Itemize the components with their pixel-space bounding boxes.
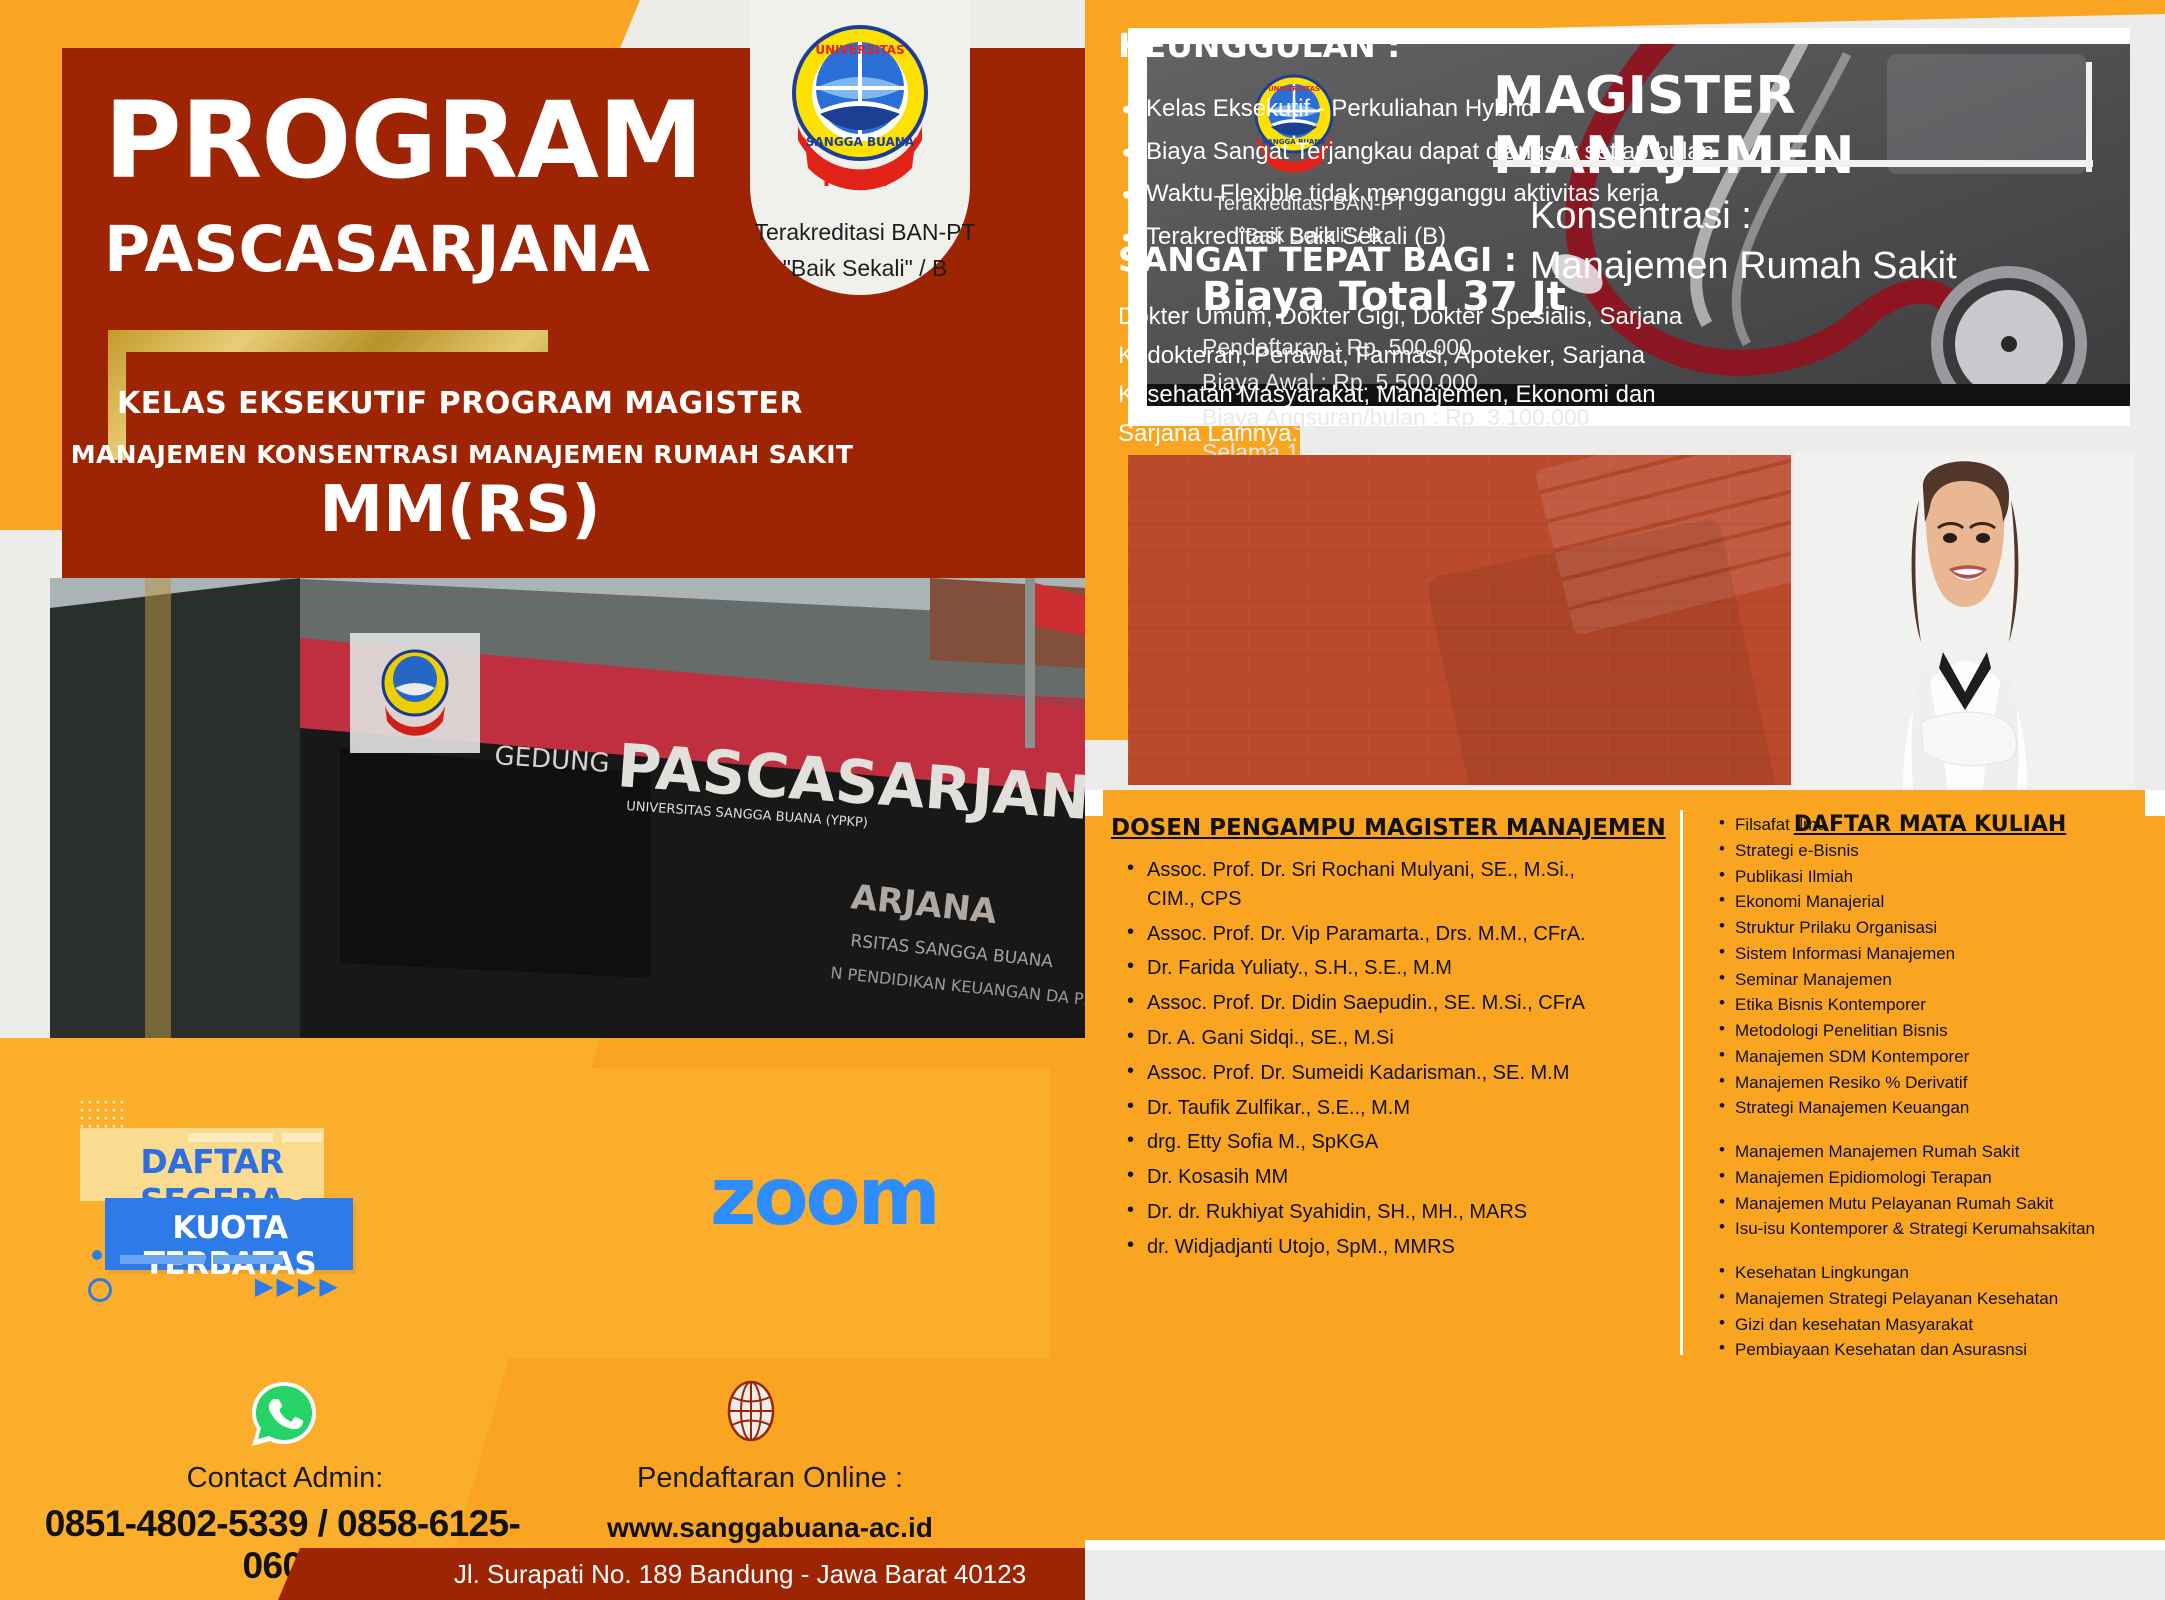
list-item: Manajemen Epidiomologi Terapan bbox=[1715, 1165, 2145, 1191]
dot-decoration-2 bbox=[92, 1250, 102, 1260]
globe-icon[interactable] bbox=[720, 1380, 782, 1442]
courses-list: Filsafat Ilmu Strategi e-Bisnis Publikas… bbox=[1715, 812, 2145, 1363]
list-item: Assoc. Prof. Dr. Sri Rochani Mulyani, SE… bbox=[1123, 856, 1613, 914]
list-item: Kelas Eksekutif - Perkuliahan Hybrid bbox=[1118, 88, 1738, 131]
promo-bar-yellow-2 bbox=[282, 1133, 322, 1142]
list-item: Etika Bisnis Kontemporer bbox=[1715, 992, 2145, 1018]
list-item: Assoc. Prof. Dr. Vip Paramarta., Drs. M.… bbox=[1123, 920, 1613, 949]
list-item: Strategi Manajemen Keuangan bbox=[1715, 1095, 2145, 1121]
doctor-photo bbox=[1795, 452, 2135, 790]
list-item: Manajemen Resiko % Derivatif bbox=[1715, 1070, 2145, 1096]
list-item: Manajemen SDM Kontemporer bbox=[1715, 1044, 2145, 1070]
list-item: drg. Etty Sofia M., SpKGA bbox=[1123, 1128, 1613, 1157]
online-registration-label: Pendaftaran Online : bbox=[560, 1462, 980, 1495]
list-item: Gizi dan kesehatan Masyarakat bbox=[1715, 1312, 2145, 1338]
page-title: PROGRAM bbox=[104, 88, 703, 194]
list-item: Pembiayaan Kesehatan dan Asurasnsi bbox=[1715, 1337, 2145, 1363]
list-item: Metodologi Penelitian Bisnis bbox=[1715, 1018, 2145, 1044]
list-item: Publikasi Ilmiah bbox=[1715, 864, 2145, 890]
dot-decoration-1 bbox=[297, 1205, 311, 1219]
right-flyer-panel: UNIVERSITAS SANGGA BUANA YPKP Terakredit… bbox=[1085, 0, 2165, 1600]
circle-outline-decoration-1 bbox=[285, 1178, 307, 1200]
lecturers-heading: DOSEN PENGAMPU MAGISTER MANAJEMEN bbox=[1111, 815, 1666, 841]
list-item: Waktu Flexible tidak mengganggu aktivita… bbox=[1118, 173, 1738, 216]
list-item: Isu-isu Kontemporer & Strategi Kerumahsa… bbox=[1715, 1216, 2145, 1242]
arrow-decoration: ▶▶▶▶ bbox=[255, 1272, 341, 1301]
orange-left-bar bbox=[0, 0, 62, 530]
promo-bar-yellow-1 bbox=[188, 1133, 273, 1142]
logo-bottom-text: SANGGA BUANA bbox=[806, 135, 915, 149]
list-item: Seminar Manajemen bbox=[1715, 967, 2145, 993]
whatsapp-icon[interactable] bbox=[250, 1380, 318, 1448]
logo-ribbon-text: YPKP bbox=[818, 167, 901, 191]
program-line-2: MANAJEMEN KONSENTRASI MANAJEMEN RUMAH SA… bbox=[62, 440, 862, 469]
accreditation-line-1: Terakreditasi BAN-PT bbox=[720, 215, 1010, 251]
list-item: dr. Widjadjanti Utojo, SpM., MMRS bbox=[1123, 1233, 1613, 1262]
campus-building-photo: GEDUNG PASCASARJANA UNIVERSITAS SANGGA B… bbox=[50, 578, 1085, 1038]
list-item: Filsafat Ilmu bbox=[1715, 812, 2145, 838]
advantages-box bbox=[1128, 455, 1791, 785]
list-item: Strategi e-Bisnis bbox=[1715, 838, 2145, 864]
lecturers-list: Assoc. Prof. Dr. Sri Rochani Mulyani, SE… bbox=[1123, 856, 1613, 1268]
circle-outline-decoration-2 bbox=[88, 1278, 112, 1302]
target-audience-heading: SANGAT TEPAT BAGI : bbox=[1118, 240, 1517, 279]
vertical-divider bbox=[1680, 810, 1683, 1355]
list-spacer bbox=[1715, 1242, 2145, 1260]
list-spacer bbox=[1715, 1121, 2145, 1139]
list-item: Manajemen Strategi Pelayanan Kesehatan bbox=[1715, 1286, 2145, 1312]
list-item: Dr. Kosasih MM bbox=[1123, 1163, 1613, 1192]
list-item: Dr. dr. Rukhiyat Syahidin, SH., MH., MAR… bbox=[1123, 1198, 1613, 1227]
list-item: Dr. A. Gani Sidqi., SE., M.Si bbox=[1123, 1024, 1613, 1053]
contact-admin-label: Contact Admin: bbox=[95, 1462, 475, 1495]
list-item: Manajemen Manajemen Rumah Sakit bbox=[1715, 1139, 2145, 1165]
list-item: Assoc. Prof. Dr. Sumeidi Kadarisman., SE… bbox=[1123, 1059, 1613, 1088]
program-line-1: KELAS EKSEKUTIF PROGRAM MAGISTER bbox=[110, 386, 810, 421]
accreditation-text: Terakreditasi BAN-PT "Baik Sekali" / B bbox=[720, 215, 1010, 286]
target-audience-text: Dokter Umum, Dokter Gigi, Dokter Spesial… bbox=[1118, 298, 1718, 454]
zoom-logo: zoom bbox=[710, 1150, 938, 1243]
logo-top-text: UNIVERSITAS bbox=[815, 43, 904, 57]
hero-frame-vertical bbox=[2086, 62, 2092, 172]
promo-bar-blue-2 bbox=[213, 1255, 283, 1264]
list-item: Dr. Taufik Zulfikar., S.E.., M.M bbox=[1123, 1094, 1613, 1123]
list-item: Manajemen Mutu Pelayanan Rumah Sakit bbox=[1715, 1191, 2145, 1217]
program-code: MM(RS) bbox=[110, 478, 810, 542]
list-item: Ekonomi Manajerial bbox=[1715, 889, 2145, 915]
website-url[interactable]: www.sanggabuana-ac.id bbox=[560, 1512, 980, 1544]
list-item: Dr. Farida Yuliaty., S.H., S.E., M.M bbox=[1123, 954, 1613, 983]
address-text: Jl. Surapati No. 189 Bandung - Jawa Bara… bbox=[420, 1559, 1060, 1590]
left-flyer-panel: PROGRAM PASCASARJANA KELAS EKSEKUTIF PRO… bbox=[0, 0, 1085, 1600]
bottom-gray-strip bbox=[1085, 1550, 2165, 1600]
promo-bar-blue-1 bbox=[120, 1255, 205, 1264]
list-item: Kesehatan Lingkungan bbox=[1715, 1260, 2145, 1286]
accreditation-line-2: "Baik Sekali" / B bbox=[720, 251, 1010, 287]
list-item: Sistem Informasi Manajemen bbox=[1715, 941, 2145, 967]
list-item: Struktur Prilaku Organisasi bbox=[1715, 915, 2145, 941]
list-item: Biaya Sangat Terjangkau dapat diangsur s… bbox=[1118, 131, 1738, 174]
advantages-heading: KEUNGGULAN : bbox=[1118, 26, 1400, 65]
university-logo: UNIVERSITAS SANGGA BUANA YPKP bbox=[790, 18, 930, 203]
list-item: Assoc. Prof. Dr. Didin Saepudin., SE. M.… bbox=[1123, 989, 1613, 1018]
advantages-list: Kelas Eksekutif - Perkuliahan Hybrid Bia… bbox=[1118, 88, 1738, 259]
page-subtitle: PASCASARJANA bbox=[104, 218, 650, 281]
